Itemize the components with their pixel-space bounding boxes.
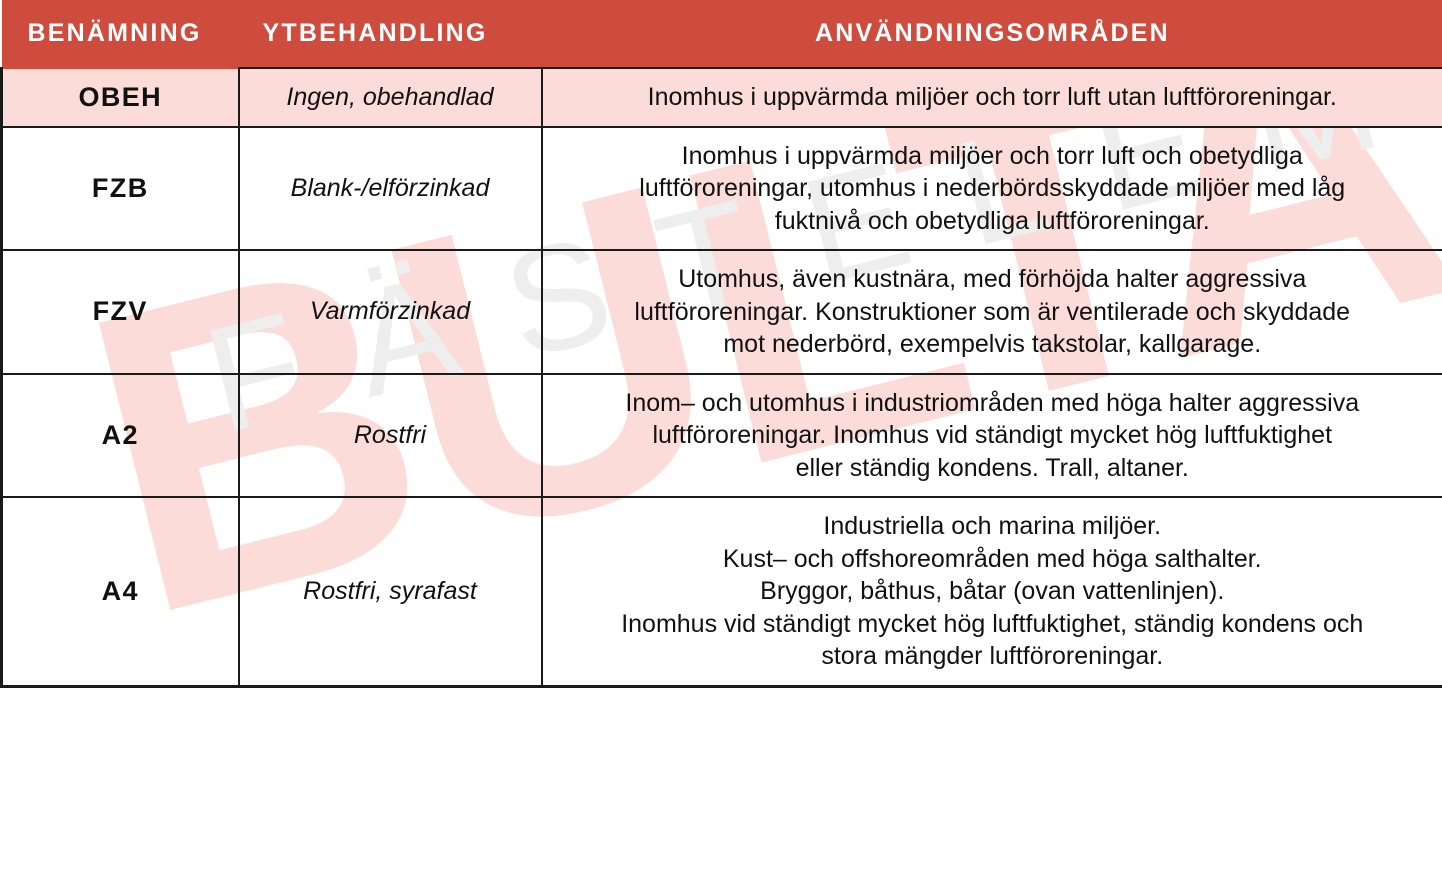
cell-ytbehandling: Rostfri — [239, 374, 542, 498]
usage-line: mot nederbörd, exempelvis takstolar, kal… — [565, 328, 1421, 361]
cell-benamning: OBEH — [2, 68, 239, 127]
usage-line: eller ständig kondens. Trall, altaner. — [565, 452, 1421, 485]
cell-benamning: FZB — [2, 127, 239, 251]
usage-line: luftföroreningar. Inomhus vid ständigt m… — [565, 419, 1421, 452]
column-header-ytbehandling: YTBEHANDLING — [239, 0, 542, 68]
cell-anvandningsomraden: Inomhus i uppvärmda miljöer och torr luf… — [542, 127, 1442, 251]
table-header-row: BENÄMNING YTBEHANDLING ANVÄNDNINGSOMRÅDE… — [2, 0, 1442, 68]
usage-line: Inomhus vid ständigt mycket hög luftfukt… — [565, 608, 1421, 641]
table-row: A4Rostfri, syrafastIndustriella och mari… — [2, 497, 1442, 686]
usage-line: Inomhus i uppvärmda miljöer och torr luf… — [565, 81, 1421, 114]
usage-line: stora mängder luftföroreningar. — [565, 640, 1421, 673]
cell-benamning: A2 — [2, 374, 239, 498]
page-root: BULTAB FÄSTELEMENT BENÄMNING YTBEHANDLIN… — [0, 0, 1442, 876]
table-header: BENÄMNING YTBEHANDLING ANVÄNDNINGSOMRÅDE… — [2, 0, 1442, 68]
cell-benamning: FZV — [2, 250, 239, 374]
usage-line: Kust– och offshoreområden med höga salth… — [565, 543, 1421, 576]
usage-line: Industriella och marina miljöer. — [565, 510, 1421, 543]
usage-line: luftföroreningar. Konstruktioner som är … — [565, 296, 1421, 329]
table-container: BENÄMNING YTBEHANDLING ANVÄNDNINGSOMRÅDE… — [0, 0, 1442, 876]
surface-treatment-table: BENÄMNING YTBEHANDLING ANVÄNDNINGSOMRÅDE… — [0, 0, 1442, 688]
table-row: A2RostfriInom– och utomhus i industriomr… — [2, 374, 1442, 498]
cell-ytbehandling: Blank-/elförzinkad — [239, 127, 542, 251]
usage-line: Bryggor, båthus, båtar (ovan vattenlinje… — [565, 575, 1421, 608]
cell-ytbehandling: Ingen, obehandlad — [239, 68, 542, 127]
cell-ytbehandling: Rostfri, syrafast — [239, 497, 542, 686]
column-header-benamning: BENÄMNING — [2, 0, 239, 68]
usage-line: Utomhus, även kustnära, med förhöjda hal… — [565, 263, 1421, 296]
table-row: FZBBlank-/elförzinkadInomhus i uppvärmda… — [2, 127, 1442, 251]
usage-line: fuktnivå och obetydliga luftföroreningar… — [565, 205, 1421, 238]
table-row: FZVVarmförzinkadUtomhus, även kustnära, … — [2, 250, 1442, 374]
column-header-anvandningsomraden: ANVÄNDNINGSOMRÅDEN — [542, 0, 1442, 68]
cell-anvandningsomraden: Utomhus, även kustnära, med förhöjda hal… — [542, 250, 1442, 374]
table-row: OBEHIngen, obehandladInomhus i uppvärmda… — [2, 68, 1442, 127]
table-body: OBEHIngen, obehandladInomhus i uppvärmda… — [2, 68, 1442, 686]
usage-line: Inom– och utomhus i industriområden med … — [565, 387, 1421, 420]
cell-anvandningsomraden: Inom– och utomhus i industriområden med … — [542, 374, 1442, 498]
cell-anvandningsomraden: Industriella och marina miljöer.Kust– oc… — [542, 497, 1442, 686]
cell-anvandningsomraden: Inomhus i uppvärmda miljöer och torr luf… — [542, 68, 1442, 127]
usage-line: luftföroreningar, utomhus i nederbördssk… — [565, 172, 1421, 205]
cell-ytbehandling: Varmförzinkad — [239, 250, 542, 374]
cell-benamning: A4 — [2, 497, 239, 686]
usage-line: Inomhus i uppvärmda miljöer och torr luf… — [565, 140, 1421, 173]
